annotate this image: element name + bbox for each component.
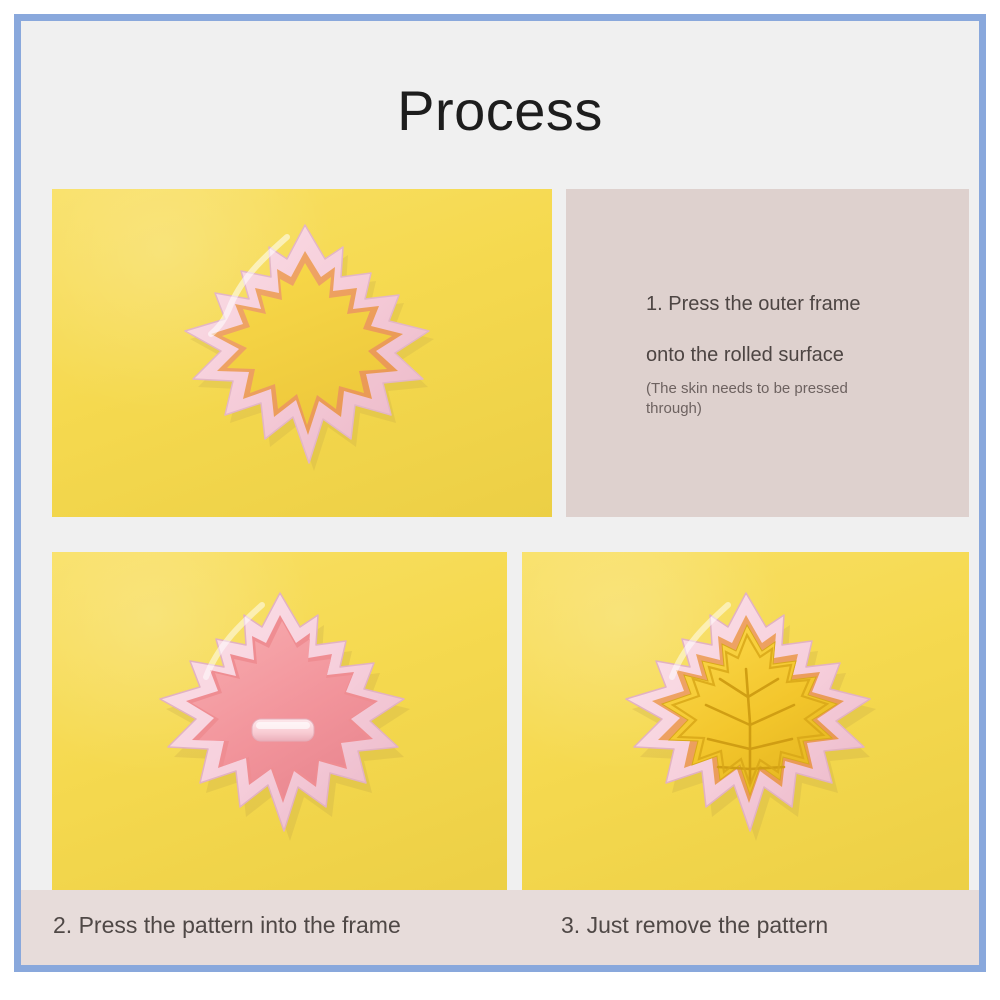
yellow-backdrop-photo-2 <box>52 552 507 904</box>
photo-panel-step-3 <box>522 552 969 904</box>
caption-band: 2. Press the pattern into the frame 3. J… <box>21 890 979 965</box>
caption-step-2: 2. Press the pattern into the frame <box>53 912 401 939</box>
stamp-handle <box>252 719 314 741</box>
yellow-backdrop-photo-3 <box>522 552 969 904</box>
product-infographic-page: Process <box>0 0 1000 1000</box>
step-1-line-1: 1. Press the outer frame <box>646 293 946 316</box>
cookie-cutter-outer-frame-illustration <box>137 203 467 503</box>
caption-step-3: 3. Just remove the pattern <box>561 912 828 939</box>
photo-panel-step-2 <box>52 552 507 904</box>
photo-panel-step-1 <box>52 189 552 517</box>
stamp-plunger-in-frame-illustration <box>130 573 430 883</box>
step-1-note: (The skin needs to be pressed through) <box>646 379 896 418</box>
instruction-panel-step-1: 1. Press the outer frame onto the rolled… <box>566 189 969 517</box>
header-bar: Process <box>21 21 979 176</box>
embossed-maple-leaf-dough-illustration <box>596 573 896 883</box>
step-1-line-2: onto the rolled surface <box>646 344 946 367</box>
instruction-panel-background: 1. Press the outer frame onto the rolled… <box>566 189 969 517</box>
page-title: Process <box>21 83 979 139</box>
blue-outer-frame: Process <box>14 14 986 972</box>
instruction-text-block: 1. Press the outer frame onto the rolled… <box>646 293 946 418</box>
panel-grid: 1. Press the outer frame onto the rolled… <box>52 189 969 904</box>
yellow-backdrop-photo-1 <box>52 189 552 517</box>
